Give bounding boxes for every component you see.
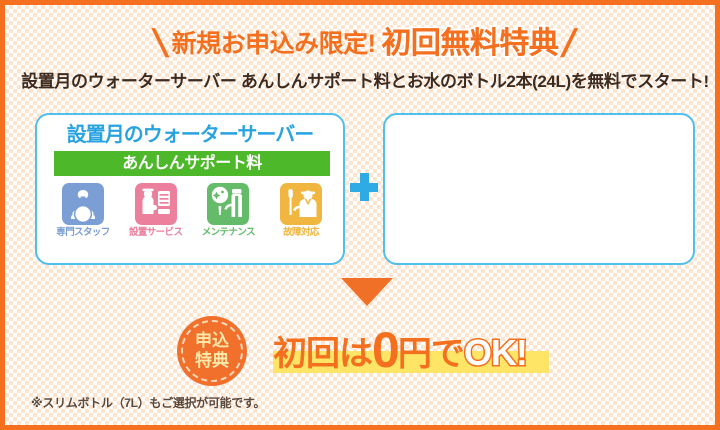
slash-left-icon: \ [150, 24, 172, 63]
promo-banner: \ 新規お申込み限定! 初回無料特典 / 設置月のウォーターサーバー あんしんサ… [0, 0, 720, 430]
zero-number: 0 [372, 325, 398, 375]
down-arrow-icon [341, 278, 393, 306]
installation-service-icon [135, 183, 177, 225]
badge-text: 申込 特典 [177, 316, 247, 386]
zero-ok-text: OK! [464, 335, 527, 371]
service-item-repair: 故障対応 [267, 183, 335, 238]
left-panel-title: 設置月のウォーターサーバー [37, 125, 343, 145]
right-panel-bottles: レギュラー ボトル 2本 [383, 113, 695, 265]
service-item-maintenance: メンテナンス [194, 183, 262, 238]
headline-part-b: 初回無料特典 [381, 29, 558, 59]
support-fee-bar: あんしんサポート料 [54, 151, 330, 176]
service-label: 故障対応 [267, 228, 335, 238]
badge-line1: 申込 [195, 331, 229, 351]
staff-person-icon [62, 183, 104, 225]
service-icon-list: 専門スタッフ 設置サービス [49, 183, 335, 238]
zero-pre-text: 初回は [273, 337, 372, 371]
left-panel-water-server: 設置月のウォーターサーバー あんしんサポート料 専門スタッフ [35, 113, 345, 265]
application-benefit-badge: 申込 特典 [177, 316, 247, 386]
slash-right-icon: / [558, 24, 580, 63]
repair-support-icon [280, 183, 322, 225]
headline: \ 新規お申込み限定! 初回無料特典 / [5, 27, 720, 61]
plus-icon [350, 173, 378, 201]
service-label: 専門スタッフ [49, 228, 117, 238]
footnote: ※スリムボトル（7L）もご選択が可能です。 [31, 397, 265, 409]
zero-mid-text: 円で [398, 337, 464, 371]
badge-line2: 特典 [195, 351, 229, 371]
service-item-staff: 専門スタッフ [49, 183, 117, 238]
zero-yen-text: 初回は 0 円で OK! [273, 323, 553, 377]
service-label: メンテナンス [194, 228, 262, 238]
support-fee-label: あんしんサポート料 [122, 156, 262, 172]
headline-part-a: 新規お申込み限定! [172, 32, 376, 57]
service-item-installation: 設置サービス [122, 183, 190, 238]
service-label: 設置サービス [122, 228, 190, 238]
zero-yen-headline: 初回は 0 円で OK! [273, 323, 553, 377]
maintenance-icon [207, 183, 249, 225]
subheadline: 設置月のウォーターサーバー あんしんサポート料とお水のボトル2本(24L)を無料… [5, 73, 720, 90]
